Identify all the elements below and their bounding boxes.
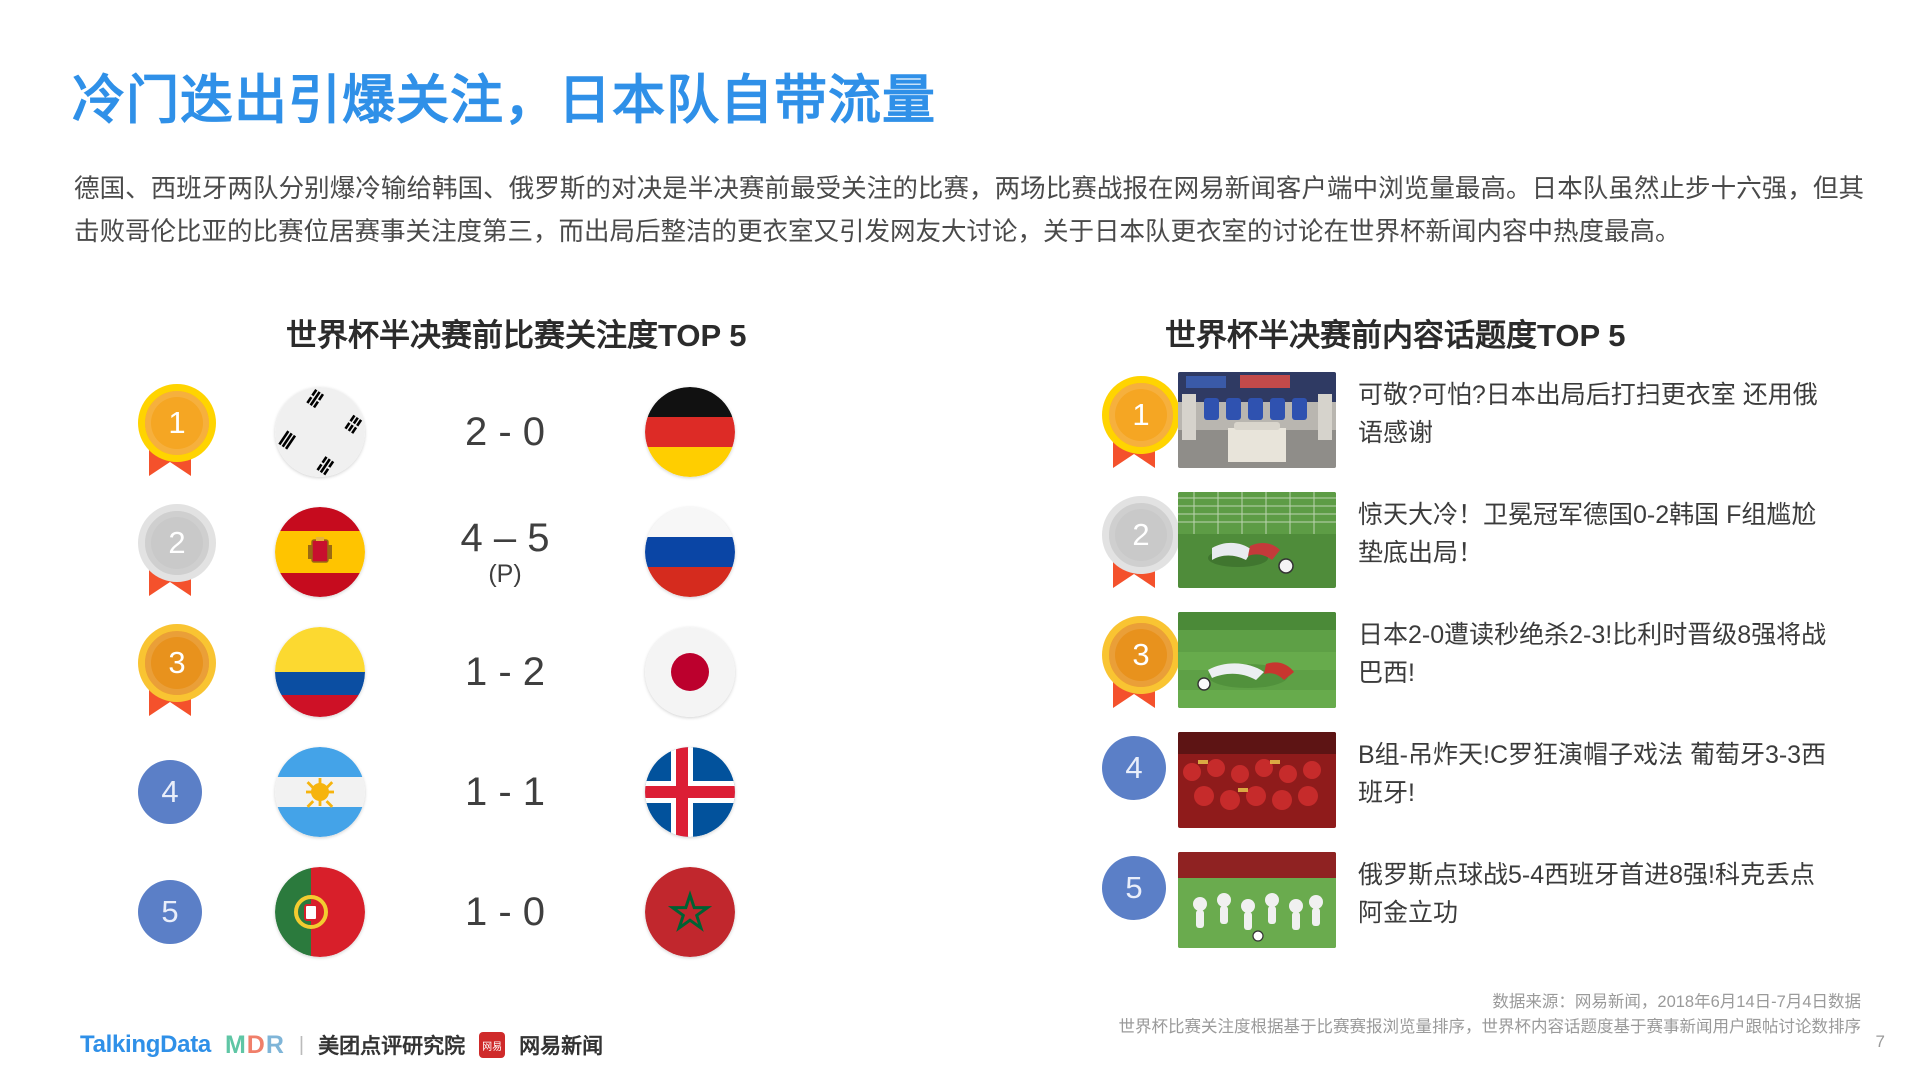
table-row[interactable]: 1 <box>110 372 910 492</box>
away-flag-cell <box>600 747 780 837</box>
silver-medal-icon: 2 <box>135 504 205 600</box>
locker-room-photo[interactable] <box>1178 372 1336 468</box>
rank-disc-icon: 5 <box>1102 856 1166 920</box>
netease-news-label: 网易新闻 <box>519 1030 603 1060</box>
source-line-1: 数据来源：网易新闻，2018年6月14日-7月4日数据 <box>1119 990 1862 1015</box>
talkingdata-logo: TalkingData <box>80 1031 211 1059</box>
news-headline[interactable]: 可敬?可怕?日本出局后打扫更衣室 还用俄语感谢 <box>1358 372 1828 452</box>
score-label: 1 - 2 <box>465 650 545 694</box>
rank-disc-icon: 5 <box>138 880 202 944</box>
es-flag-icon <box>275 507 365 597</box>
score-label: 1 - 1 <box>465 770 545 814</box>
bronze-medal-icon: 3 <box>1099 616 1169 712</box>
news-headline[interactable]: B组-吊炸天!C罗狂演帽子戏法 葡萄牙3-3西班牙! <box>1358 732 1828 812</box>
score-cell: 1 - 2 <box>410 651 600 693</box>
rank-cell: 2 <box>110 504 230 600</box>
home-flag-cell <box>230 627 410 717</box>
slide-root: 冷门迭出引爆关注，日本队自带流量 德国、西班牙两队分别爆冷输给韩国、俄罗斯的对决… <box>0 0 1921 1080</box>
celebration-photo[interactable] <box>1178 852 1336 948</box>
logo-bar: TalkingData MDR | 美团点评研究院 网易 网易新闻 <box>80 1030 603 1060</box>
table-row[interactable]: 5 1 - 0 <box>110 852 910 972</box>
goal-save-photo[interactable] <box>1178 492 1336 588</box>
score-label: 4 – 5 <box>461 516 550 560</box>
medal-rank-label: 3 <box>138 624 216 702</box>
de-flag-icon <box>645 387 735 477</box>
away-flag-cell <box>600 867 780 957</box>
gold-medal-icon: 1 <box>135 384 205 480</box>
news-headline[interactable]: 俄罗斯点球战5-4西班牙首进8强!科克丢点阿金立功 <box>1358 852 1828 932</box>
table-row[interactable]: 4 <box>110 732 910 852</box>
medal-rank-label: 1 <box>1102 376 1180 454</box>
medal-rank-label: 2 <box>138 504 216 582</box>
rank-label: 5 <box>161 894 178 930</box>
match-attention-list: 1 <box>110 372 910 972</box>
score-label: 2 - 0 <box>465 410 545 454</box>
news-headline[interactable]: 惊天大冷！卫冕冠军德国0-2韩国 F组尴尬垫底出局！ <box>1358 492 1828 572</box>
news-topic-list: 1 <box>1090 372 1880 972</box>
news-headline[interactable]: 日本2-0遭读秒绝杀2-3!比利时晋级8强将战巴西! <box>1358 612 1828 692</box>
score-cell: 2 - 0 <box>410 411 600 453</box>
table-row[interactable]: 2 <box>110 492 910 612</box>
is-flag-icon <box>645 747 735 837</box>
rank-cell: 3 <box>1090 612 1178 712</box>
page-title: 冷门迭出引爆关注，日本队自带流量 <box>72 58 936 134</box>
rank-label: 5 <box>1125 870 1142 906</box>
bronze-medal-icon: 3 <box>135 624 205 720</box>
score-cell: 1 - 1 <box>410 771 600 813</box>
home-flag-cell <box>230 747 410 837</box>
away-flag-cell <box>600 387 780 477</box>
red-crowd-photo[interactable] <box>1178 732 1336 828</box>
lede-paragraph: 德国、西班牙两队分别爆冷输给韩国、俄罗斯的对决是半决赛前最受关注的比赛，两场比赛… <box>74 168 1864 254</box>
medal-rank-label: 3 <box>1102 616 1180 694</box>
rank-disc-icon: 4 <box>138 760 202 824</box>
source-line-2: 世界杯比赛关注度根据基于比赛赛报浏览量排序，世界杯内容话题度基于赛事新闻用户跟帖… <box>1119 1015 1862 1040</box>
ma-flag-icon <box>645 867 735 957</box>
co-flag-icon <box>275 627 365 717</box>
rank-label: 4 <box>161 774 178 810</box>
away-flag-cell <box>600 627 780 717</box>
score-note: (P) <box>410 561 600 587</box>
rank-cell: 4 <box>1090 732 1178 800</box>
away-flag-cell <box>600 507 780 597</box>
score-cell: 1 - 0 <box>410 891 600 933</box>
rank-cell: 1 <box>1090 372 1178 472</box>
ru-flag-icon <box>645 507 735 597</box>
table-row[interactable]: 3 1 - 2 <box>110 612 910 732</box>
rank-cell: 5 <box>110 880 230 944</box>
rank-cell: 4 <box>110 760 230 824</box>
home-flag-cell <box>230 387 410 477</box>
list-item[interactable]: 2 惊天大冷！卫冕冠军德国0-2韩国 F组尴尬垫底出局！ <box>1090 492 1880 612</box>
rank-disc-icon: 4 <box>1102 736 1166 800</box>
list-item[interactable]: 5 俄罗斯点球战5-4西班牙首 <box>1090 852 1880 972</box>
rank-cell: 3 <box>110 624 230 720</box>
meituan-research-label: 美团点评研究院 <box>318 1030 465 1060</box>
list-item[interactable]: 3 日本2-0遭读秒绝杀2-3!比利时晋级8强将战巴西! <box>1090 612 1880 732</box>
page-number: 7 <box>1876 1032 1885 1052</box>
kr-flag-icon <box>275 387 365 477</box>
logo-divider: | <box>299 1034 304 1057</box>
medal-rank-label: 1 <box>138 384 216 462</box>
home-flag-cell <box>230 507 410 597</box>
list-item[interactable]: 4 <box>1090 732 1880 852</box>
rank-cell: 2 <box>1090 492 1178 592</box>
score-label: 1 - 0 <box>465 890 545 934</box>
rank-cell: 1 <box>110 384 230 480</box>
pt-flag-icon <box>275 867 365 957</box>
left-section-heading: 世界杯半决赛前比赛关注度TOP 5 <box>286 310 746 355</box>
list-item[interactable]: 1 <box>1090 372 1880 492</box>
rank-label: 4 <box>1125 750 1142 786</box>
jp-flag-icon <box>645 627 735 717</box>
score-cell: 4 – 5 (P) <box>410 517 600 587</box>
gold-medal-icon: 1 <box>1099 376 1169 472</box>
medal-rank-label: 2 <box>1102 496 1180 574</box>
right-section-heading: 世界杯半决赛前内容话题度TOP 5 <box>1165 310 1625 355</box>
mdr-logo: MDR <box>225 1031 285 1060</box>
players-on-pitch-photo[interactable] <box>1178 612 1336 708</box>
home-flag-cell <box>230 867 410 957</box>
ar-flag-icon <box>275 747 365 837</box>
rank-cell: 5 <box>1090 852 1178 920</box>
source-note: 数据来源：网易新闻，2018年6月14日-7月4日数据 世界杯比赛关注度根据基于… <box>1119 990 1862 1040</box>
silver-medal-icon: 2 <box>1099 496 1169 592</box>
netease-badge-icon: 网易 <box>479 1032 505 1058</box>
